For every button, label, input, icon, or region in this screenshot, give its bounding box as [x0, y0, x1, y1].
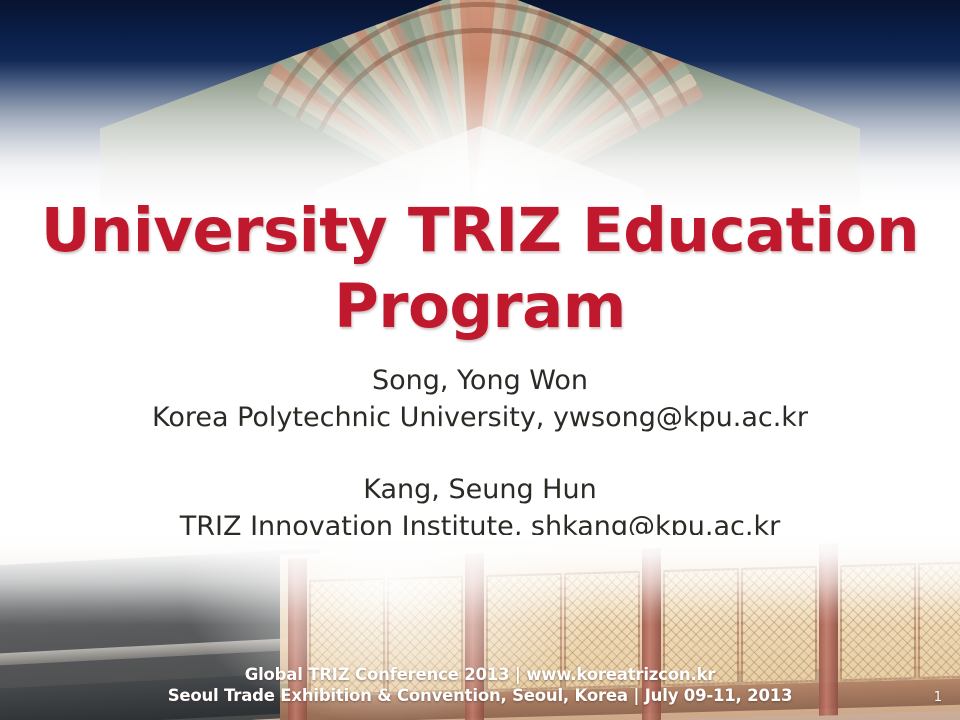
author-list: Song, Yong Won Korea Polytechnic Univers…	[0, 362, 960, 545]
page-title: University TRIZ Education Program	[0, 193, 960, 345]
slide-footer: Global TRIZ Conference 2013 | www.koreat…	[0, 664, 960, 706]
presentation-slide: University TRIZ Education Program Song, …	[0, 0, 960, 720]
author-entry: Song, Yong Won Korea Polytechnic Univers…	[0, 362, 960, 436]
author-name: Song, Yong Won	[0, 362, 960, 399]
temple-eave-graphic	[100, 0, 860, 210]
author-spacer	[0, 436, 960, 471]
author-name: Kang, Seung Hun	[0, 471, 960, 508]
page-number: 1	[934, 690, 942, 706]
top-decorative-image	[0, 0, 960, 210]
lattice-door	[918, 561, 960, 679]
author-entry: Kang, Seung Hun TRIZ Innovation Institut…	[0, 471, 960, 545]
author-affiliation: Korea Polytechnic University, ywsong@kpu…	[0, 399, 960, 436]
footer-line-conference: Global TRIZ Conference 2013 | www.koreat…	[0, 664, 960, 685]
footer-line-venue: Seoul Trade Exhibition & Convention, Seo…	[0, 685, 960, 706]
